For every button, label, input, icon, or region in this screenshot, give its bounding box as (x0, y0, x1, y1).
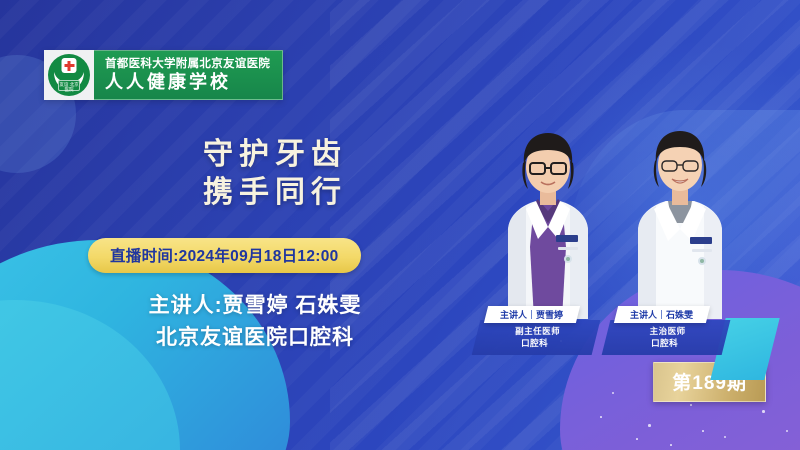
doctor-department-1: 口腔科 (605, 337, 725, 349)
doctor-card-1: 主治医师 口腔科 主讲人 石姝雯 (610, 120, 750, 355)
doctor-role-label-0: 主讲人 (500, 308, 527, 321)
doctor-card-0: 副主任医师 口腔科 主讲人 贾雪婷 (478, 120, 618, 355)
doctor-photos-group: 副主任医师 口腔科 主讲人 贾雪婷 (470, 95, 800, 355)
speakers-department: 北京友谊医院口腔科 (95, 322, 415, 354)
doctor-nameplate-0: 主讲人 贾雪婷 (484, 306, 580, 323)
doctor-role-label-1: 主讲人 (630, 308, 657, 321)
speakers-info: 主讲人:贾雪婷 石姝雯 北京友谊医院口腔科 (95, 290, 415, 354)
doctor-title-1: 主治医师 (608, 325, 728, 337)
doctor-subtitle-0: 副主任医师 口腔科 (472, 320, 601, 355)
doctor-name-1: 石姝雯 (667, 308, 694, 321)
doctor-title-0: 副主任医师 (478, 325, 598, 337)
doctor-portrait-0 (478, 119, 618, 319)
doctor-name-0: 贾雪婷 (537, 308, 564, 321)
live-stream-poster: 友谊 北京医院 首都医科大学附属北京友谊医院 人人健康学校 守护牙齿 携手同行 … (0, 0, 800, 450)
nameplate-separator-icon (662, 310, 663, 319)
hospital-name-plate: 首都医科大学附属北京友谊医院 人人健康学校 (94, 50, 283, 100)
hospital-logo-bar: 友谊 北京医院 首都医科大学附属北京友谊医院 人人健康学校 (44, 50, 283, 100)
doctor-nameplate-1: 主讲人 石姝雯 (614, 306, 710, 323)
page-title: 守护牙齿 携手同行 (110, 136, 440, 212)
headline-line-2: 携手同行 (110, 174, 440, 212)
nameplate-separator-icon (532, 310, 533, 319)
emblem-inner-text: 友谊 北京医院 (58, 80, 80, 91)
program-name: 人人健康学校 (105, 71, 270, 93)
hospital-emblem-icon: 友谊 北京医院 (44, 50, 94, 100)
doctor-department-0: 口腔科 (475, 337, 595, 349)
doctor-subtitle-1: 主治医师 口腔科 (602, 320, 731, 355)
speakers-names: 主讲人:贾雪婷 石姝雯 (95, 290, 415, 322)
doctor-portrait-1 (610, 119, 750, 319)
headline-line-1: 守护牙齿 (110, 136, 440, 174)
broadcast-time-badge: 直播时间:2024年09月18日12:00 (88, 238, 361, 273)
hospital-full-name: 首都医科大学附属北京友谊医院 (105, 57, 270, 71)
